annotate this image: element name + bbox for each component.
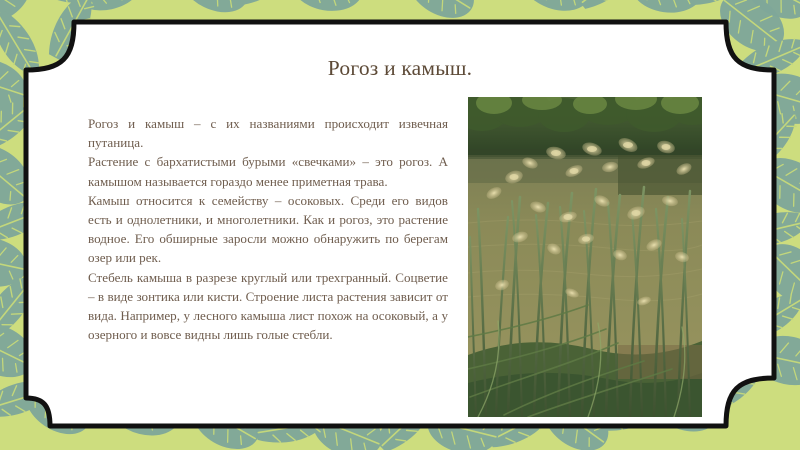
paragraph-2: Растение с бархатистыми бурыми «свечками… [88,152,448,190]
slide-canvas: Рогоз и камыш. Рогоз и камыш – с их назв… [0,0,800,450]
paragraph-1: Рогоз и камыш – с их названиями происход… [88,114,448,152]
paragraph-4: Стебель камыша в разрезе круглый или тре… [88,268,448,345]
paragraph-3: Камыш относится к семейству – осоковых. … [88,191,448,268]
reed-photo [468,97,702,417]
page-title: Рогоз и камыш. [60,56,740,81]
body-text-block: Рогоз и камыш – с их названиями происход… [88,114,448,344]
